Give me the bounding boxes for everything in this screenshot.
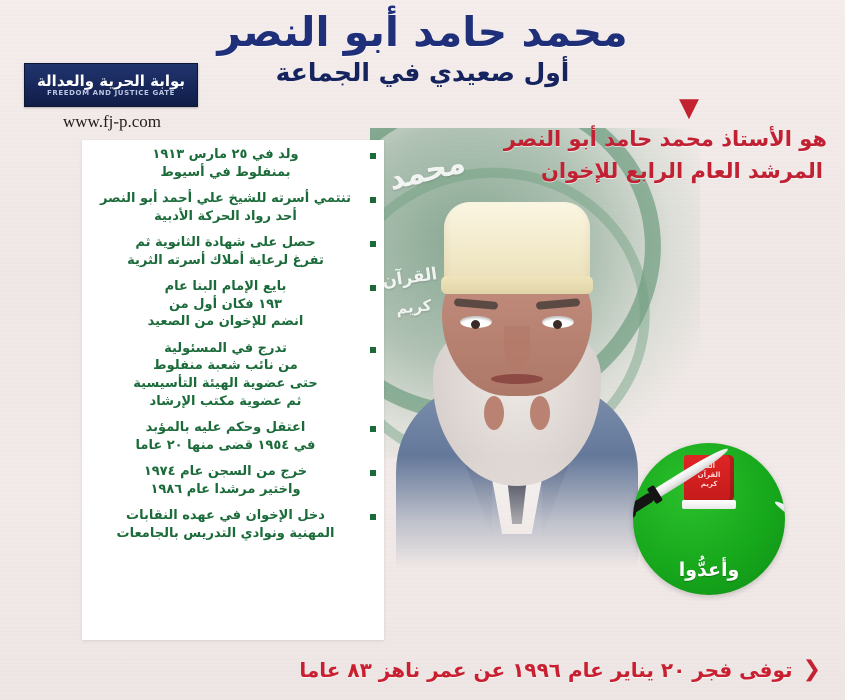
bullet-item: بايع الإمام البنا عام١٩٣ فكان أول منانضم… [88,278,376,331]
footer-text: توفى فجر ٢٠ يناير عام ١٩٩٦ عن عمر ناهز ٨… [299,658,792,682]
intro-note: هو الأستاذ محمد حامد أبو النصر المرشد ال… [537,124,827,187]
bullet-square-icon [370,197,376,203]
bullet-item: حصل على شهادة الثانوية ثمتفرغ لرعاية أمل… [88,234,376,269]
bullet-line: تنتمي أسرته للشيخ علي أحمد أبو النصر [88,190,363,208]
bullet-square-icon [370,470,376,476]
intro-line-2: المرشد العام الرابع للإخوان [537,156,827,188]
sword-icon-right [772,498,785,559]
logo-arabic-name: بوابة الحرية والعدالة [37,74,185,89]
bullet-square-icon [370,514,376,520]
bullet-line: المهنية ونوادي التدريس بالجامعات [88,525,363,543]
logo-english-name: FREEDOM AND JUSTICE GATE [47,90,175,97]
infographic-canvas: محمد حامد أبو النصر أول صعيدي في الجماعة… [0,0,845,700]
bullet-line: دخل الإخوان في عهده النقابات [88,507,363,525]
bullet-line: حصل على شهادة الثانوية ثم [88,234,363,252]
bullet-line: ١٩٣ فكان أول من [88,296,363,314]
bullet-item: ولد في ٢٥ مارس ١٩١٣بمنفلوط في أسيوط [88,146,376,181]
bullet-line: واختير مرشدا عام ١٩٨٦ [88,481,363,499]
logo-website-url[interactable]: www.fj-p.com [26,112,198,132]
biography-bullet-list: ولد في ٢٥ مارس ١٩١٣بمنفلوط في أسيوطتنتمي… [82,140,384,640]
bullet-square-icon [370,426,376,432]
bullet-line: أحد رواد الحركة الأدبية [88,208,363,226]
biography-panel: ولد في ٢٥ مارس ١٩١٣بمنفلوط في أسيوطتنتمي… [82,140,384,640]
bullet-item: تدرج في المسئوليةمن نائب شعبة منفلوطحتى … [88,340,376,410]
bullet-square-icon [370,347,376,353]
portrait-fade-mask [392,168,642,568]
bullet-square-icon [370,153,376,159]
bullet-square-icon [370,241,376,247]
bullet-line: من نائب شعبة منفلوط [88,357,363,375]
portrait-nose [504,326,530,370]
bullet-text: بايع الإمام البنا عام١٩٣ فكان أول منانضم… [88,278,363,331]
sword-blade-right [772,498,785,551]
bullet-text: دخل الإخوان في عهده النقاباتالمهنية ونوا… [88,507,363,542]
bullet-line: تفرغ لرعاية أملاك أسرته الثرية [88,252,363,270]
bullet-item: تنتمي أسرته للشيخ علي أحمد أبو النصرأحد … [88,190,376,225]
bullet-text: حصل على شهادة الثانوية ثمتفرغ لرعاية أمل… [88,234,363,269]
bullet-item: اعتقل وحكم عليه بالمؤبدفي ١٩٥٤ قضى منها … [88,419,376,454]
site-logo[interactable]: بوابة الحرية والعدالة FREEDOM AND JUSTIC… [26,63,198,132]
portrait-cap [444,202,590,294]
portrait-pupil-left [471,320,480,329]
bullet-line: ولد في ٢٥ مارس ١٩١٣ [88,146,363,164]
bullet-item: خرج من السجن عام ١٩٧٤واختير مرشدا عام ١٩… [88,463,376,498]
bullet-line: ثم عضوية مكتب الإرشاد [88,393,363,411]
bullet-line: في ١٩٥٤ قضى منها ٢٠ عاما [88,437,363,455]
bullet-item: دخل الإخوان في عهده النقاباتالمهنية ونوا… [88,507,376,542]
bullet-text: اعتقل وحكم عليه بالمؤبدفي ١٩٥٤ قضى منها … [88,419,363,454]
bullet-line: بايع الإمام البنا عام [88,278,363,296]
intro-line-1: هو الأستاذ محمد حامد أبو النصر [537,124,827,156]
portrait-ear-right [530,396,550,430]
portrait-eye-right [542,316,574,328]
bullet-line: انضم للإخوان من الصعيد [88,313,363,331]
bullet-square-icon [370,285,376,291]
portrait-ear-left [484,396,504,430]
portrait-photo [392,168,642,568]
quran-book-pages [682,500,736,509]
portrait-cap-band [441,276,593,294]
brotherhood-emblem: الله القرآن كريم وأعدُّوا [633,443,785,595]
portrait-pupil-right [553,320,562,329]
bullet-text: ولد في ٢٥ مارس ١٩١٣بمنفلوط في أسيوط [88,146,363,181]
chevron-left-icon: ❮ [803,659,821,681]
logo-badge: بوابة الحرية والعدالة FREEDOM AND JUSTIC… [24,63,198,107]
bullet-line: خرج من السجن عام ١٩٧٤ [88,463,363,481]
bullet-text: تدرج في المسئوليةمن نائب شعبة منفلوطحتى … [88,340,363,410]
bullet-line: تدرج في المسئولية [88,340,363,358]
bullet-line: بمنفلوط في أسيوط [88,164,363,182]
quran-book-line-3: كريم [684,480,734,489]
portrait-mouth [491,374,543,384]
bullet-line: اعتقل وحكم عليه بالمؤبد [88,419,363,437]
bullet-line: حتى عضوية الهيئة التأسيسية [88,375,363,393]
bullet-text: تنتمي أسرته للشيخ علي أحمد أبو النصرأحد … [88,190,363,225]
emblem-motto: وأعدُّوا [633,559,785,581]
portrait-eye-left [460,316,492,328]
page-title: محمد حامد أبو النصر [0,8,845,56]
footer-caption: ❮ توفى فجر ٢٠ يناير عام ١٩٩٦ عن عمر ناهز… [299,658,821,682]
bullet-text: خرج من السجن عام ١٩٧٤واختير مرشدا عام ١٩… [88,463,363,498]
